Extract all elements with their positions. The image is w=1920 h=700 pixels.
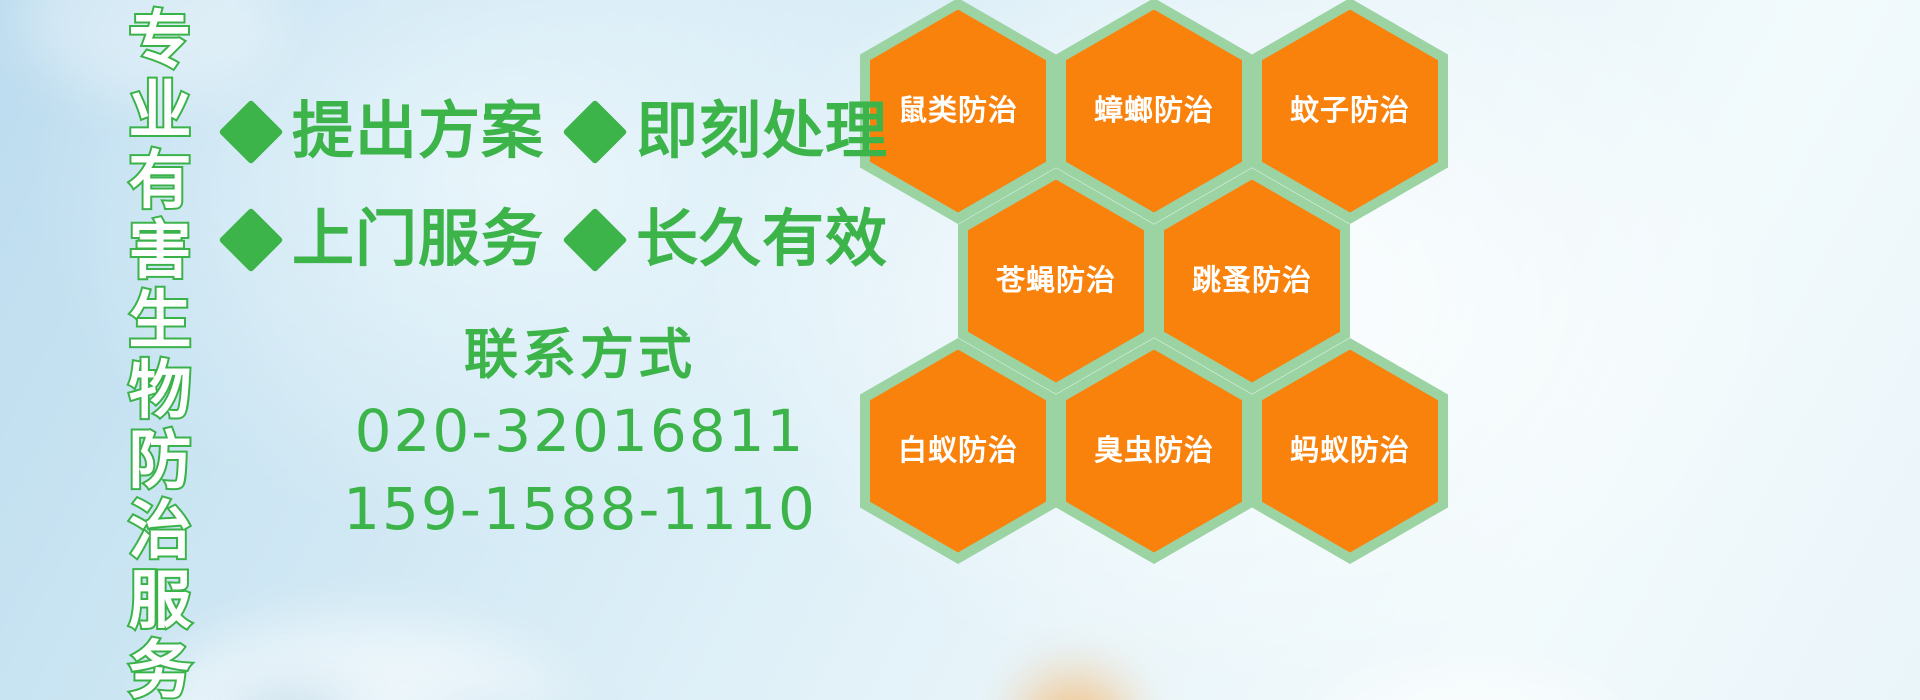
service-hex-inner: 鼠类防治 (870, 10, 1046, 213)
feature-item: 即刻处理 (572, 101, 888, 163)
feature-label: 即刻处理 (636, 101, 888, 163)
service-hex-label: 蚊子防治 (1290, 97, 1410, 126)
service-hex-label: 蚂蚁防治 (1290, 437, 1410, 466)
contact-phone-mobile[interactable]: 159-1588-1110 (300, 470, 860, 548)
vertical-headline-char: 物 (129, 356, 192, 426)
feature-list: 提出方案 即刻处理 上门服务 长久有效 (228, 78, 868, 294)
vertical-headline-char: 治 (129, 496, 192, 566)
contact-phone-landline[interactable]: 020-32016811 (300, 392, 860, 470)
feature-item: 上门服务 (228, 209, 544, 271)
service-hex-label: 鼠类防治 (898, 97, 1018, 126)
feature-row: 上门服务 长久有效 (228, 186, 868, 294)
service-hex-inner: 苍蝇防治 (968, 180, 1144, 383)
background-blur-blob (430, 695, 590, 700)
background-blur-blob (150, 620, 570, 700)
service-hex-inner: 蚂蚁防治 (1262, 350, 1438, 553)
service-hex-inner: 跳蚤防治 (1164, 180, 1340, 383)
service-hex-inner: 蚊子防治 (1262, 10, 1438, 213)
service-honeycomb: 鼠类防治 蟑螂防治 蚊子防治 苍蝇防治 跳蚤防治 白蚁防治 (856, 0, 1456, 544)
feature-label: 长久有效 (636, 209, 888, 271)
service-hex-label: 跳蚤防治 (1192, 267, 1312, 296)
vertical-headline-char: 害 (129, 216, 192, 286)
vertical-headline-char: 有 (129, 146, 192, 216)
promo-banner: 专 业 有 害 生 物 防 治 服 务 提出方案 即刻处理 上门服务 (0, 0, 1920, 700)
diamond-bullet-icon (218, 99, 283, 164)
vertical-headline-char: 服 (129, 566, 192, 636)
vertical-headline-char: 务 (129, 636, 192, 700)
service-hex-inner: 臭虫防治 (1066, 350, 1242, 553)
feature-item: 长久有效 (572, 209, 888, 271)
service-hex-inner: 蟑螂防治 (1066, 10, 1242, 213)
contact-title: 联系方式 (300, 318, 860, 392)
vertical-headline: 专 业 有 害 生 物 防 治 服 务 (108, 6, 212, 566)
diamond-bullet-icon (218, 207, 283, 272)
vertical-headline-char: 防 (129, 426, 192, 496)
service-hex-label: 白蚁防治 (898, 437, 1018, 466)
diamond-bullet-icon (562, 99, 627, 164)
background-blur-blob (230, 690, 350, 700)
contact-block: 联系方式 020-32016811 159-1588-1110 (300, 318, 860, 548)
vertical-headline-char: 专 (129, 6, 192, 76)
feature-row: 提出方案 即刻处理 (228, 78, 868, 186)
background-blur-blob (1320, 665, 1620, 700)
feature-item: 提出方案 (228, 101, 544, 163)
diamond-bullet-icon (562, 207, 627, 272)
service-hex-label: 蟑螂防治 (1094, 97, 1214, 126)
service-hex-label: 臭虫防治 (1094, 437, 1214, 466)
background-blur-blob (1020, 675, 1130, 700)
feature-label: 上门服务 (292, 209, 544, 271)
vertical-headline-char: 业 (129, 76, 192, 146)
service-hex-label: 苍蝇防治 (996, 267, 1116, 296)
feature-label: 提出方案 (292, 101, 544, 163)
vertical-headline-char: 生 (129, 286, 192, 356)
service-hex-inner: 白蚁防治 (870, 350, 1046, 553)
